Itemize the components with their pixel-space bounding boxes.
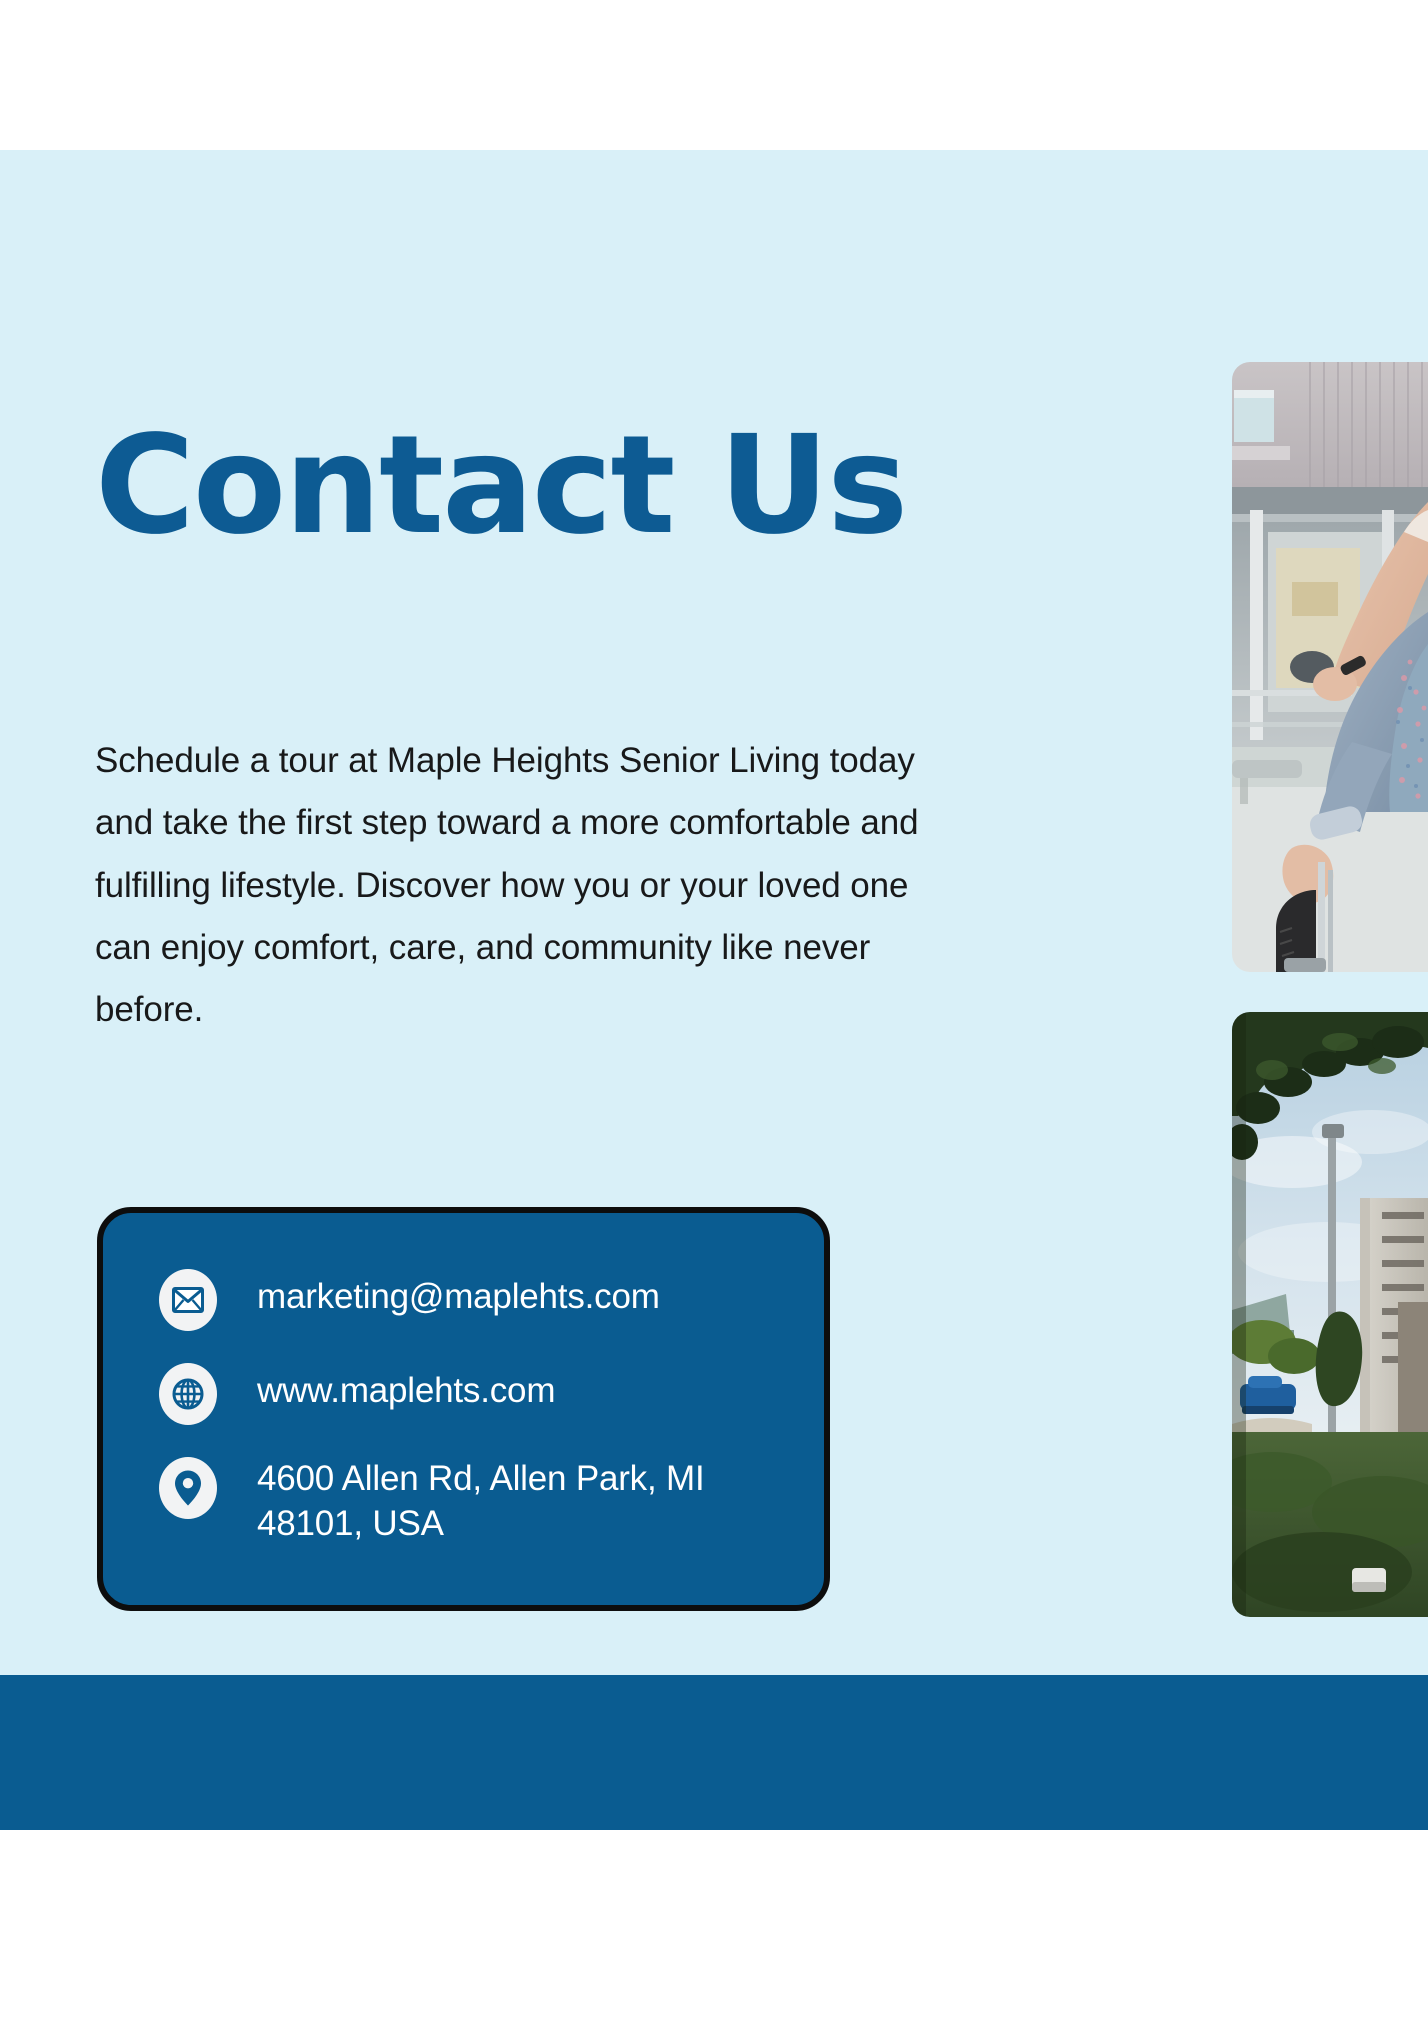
- intro-paragraph: Schedule a tour at Maple Heights Senior …: [95, 730, 940, 1041]
- contact-row-email[interactable]: marketing@maplehts.com: [159, 1267, 824, 1331]
- email-address-text: marketing@maplehts.com: [257, 1267, 660, 1320]
- contact-details-card: marketing@maplehts.com www.maplehts.com: [97, 1207, 830, 1611]
- page-title: Contact Us: [95, 418, 995, 554]
- website-url-text: www.maplehts.com: [257, 1361, 555, 1414]
- contact-row-address[interactable]: 4600 Allen Rd, Allen Park, MI 48101, USA: [159, 1455, 824, 1547]
- contact-row-website[interactable]: www.maplehts.com: [159, 1361, 824, 1425]
- senior-in-wheelchair-photo: [1232, 362, 1428, 972]
- envelope-icon: [159, 1269, 217, 1331]
- globe-icon: [159, 1363, 217, 1425]
- street-address-text: 4600 Allen Rd, Allen Park, MI 48101, USA: [257, 1455, 705, 1547]
- bottom-blue-bar: [0, 1675, 1428, 1830]
- location-pin-icon: [159, 1457, 217, 1519]
- community-exterior-photo: [1232, 1012, 1428, 1617]
- contact-us-page: Contact Us Schedule a tour at Maple Heig…: [0, 0, 1428, 2018]
